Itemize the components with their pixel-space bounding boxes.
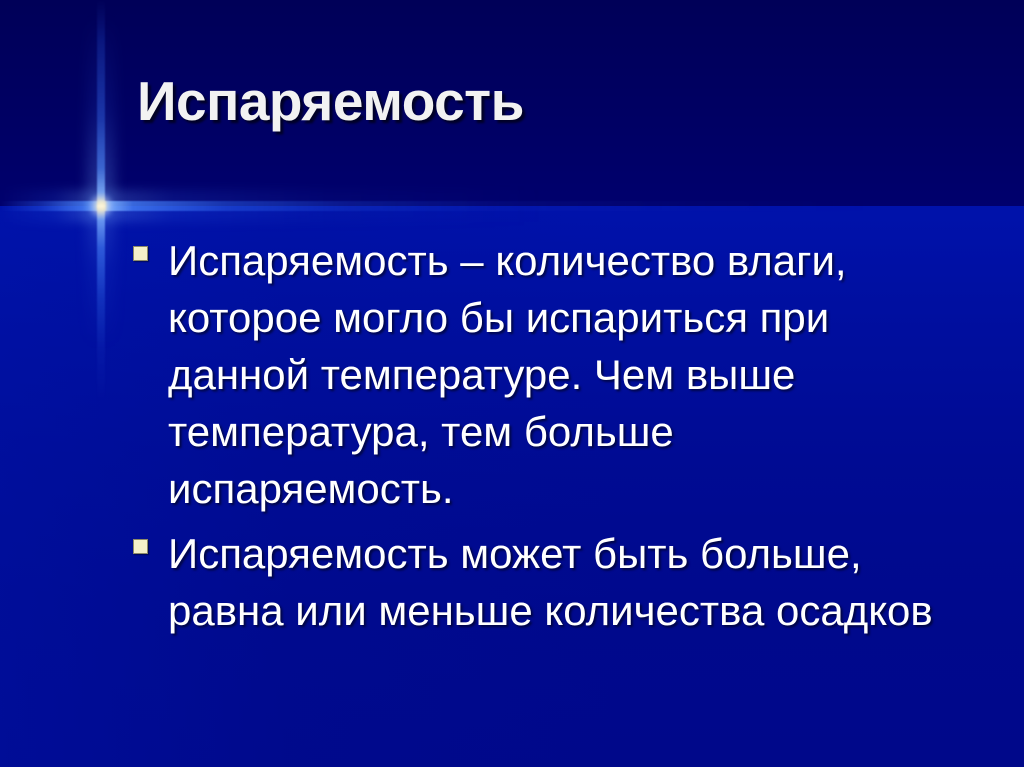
bullet-list: Испаряемость – количество влаги, которое… — [133, 232, 954, 639]
square-bullet-icon — [133, 246, 148, 261]
presentation-slide: Испаряемость Испаряемость – количество в… — [0, 0, 1024, 767]
bullet-item: Испаряемость может быть больше, равна ил… — [133, 525, 954, 639]
body-placeholder: Испаряемость – количество влаги, которое… — [0, 232, 1024, 647]
bullet-item-text: Испаряемость – количество влаги, которое… — [168, 237, 847, 512]
title-placeholder: Испаряемость — [0, 70, 1024, 132]
slide-title: Испаряемость — [137, 70, 964, 132]
bullet-item-text: Испаряемость может быть больше, равна ил… — [168, 530, 933, 634]
square-bullet-icon — [133, 539, 148, 554]
bullet-item: Испаряемость – количество влаги, которое… — [133, 232, 954, 517]
